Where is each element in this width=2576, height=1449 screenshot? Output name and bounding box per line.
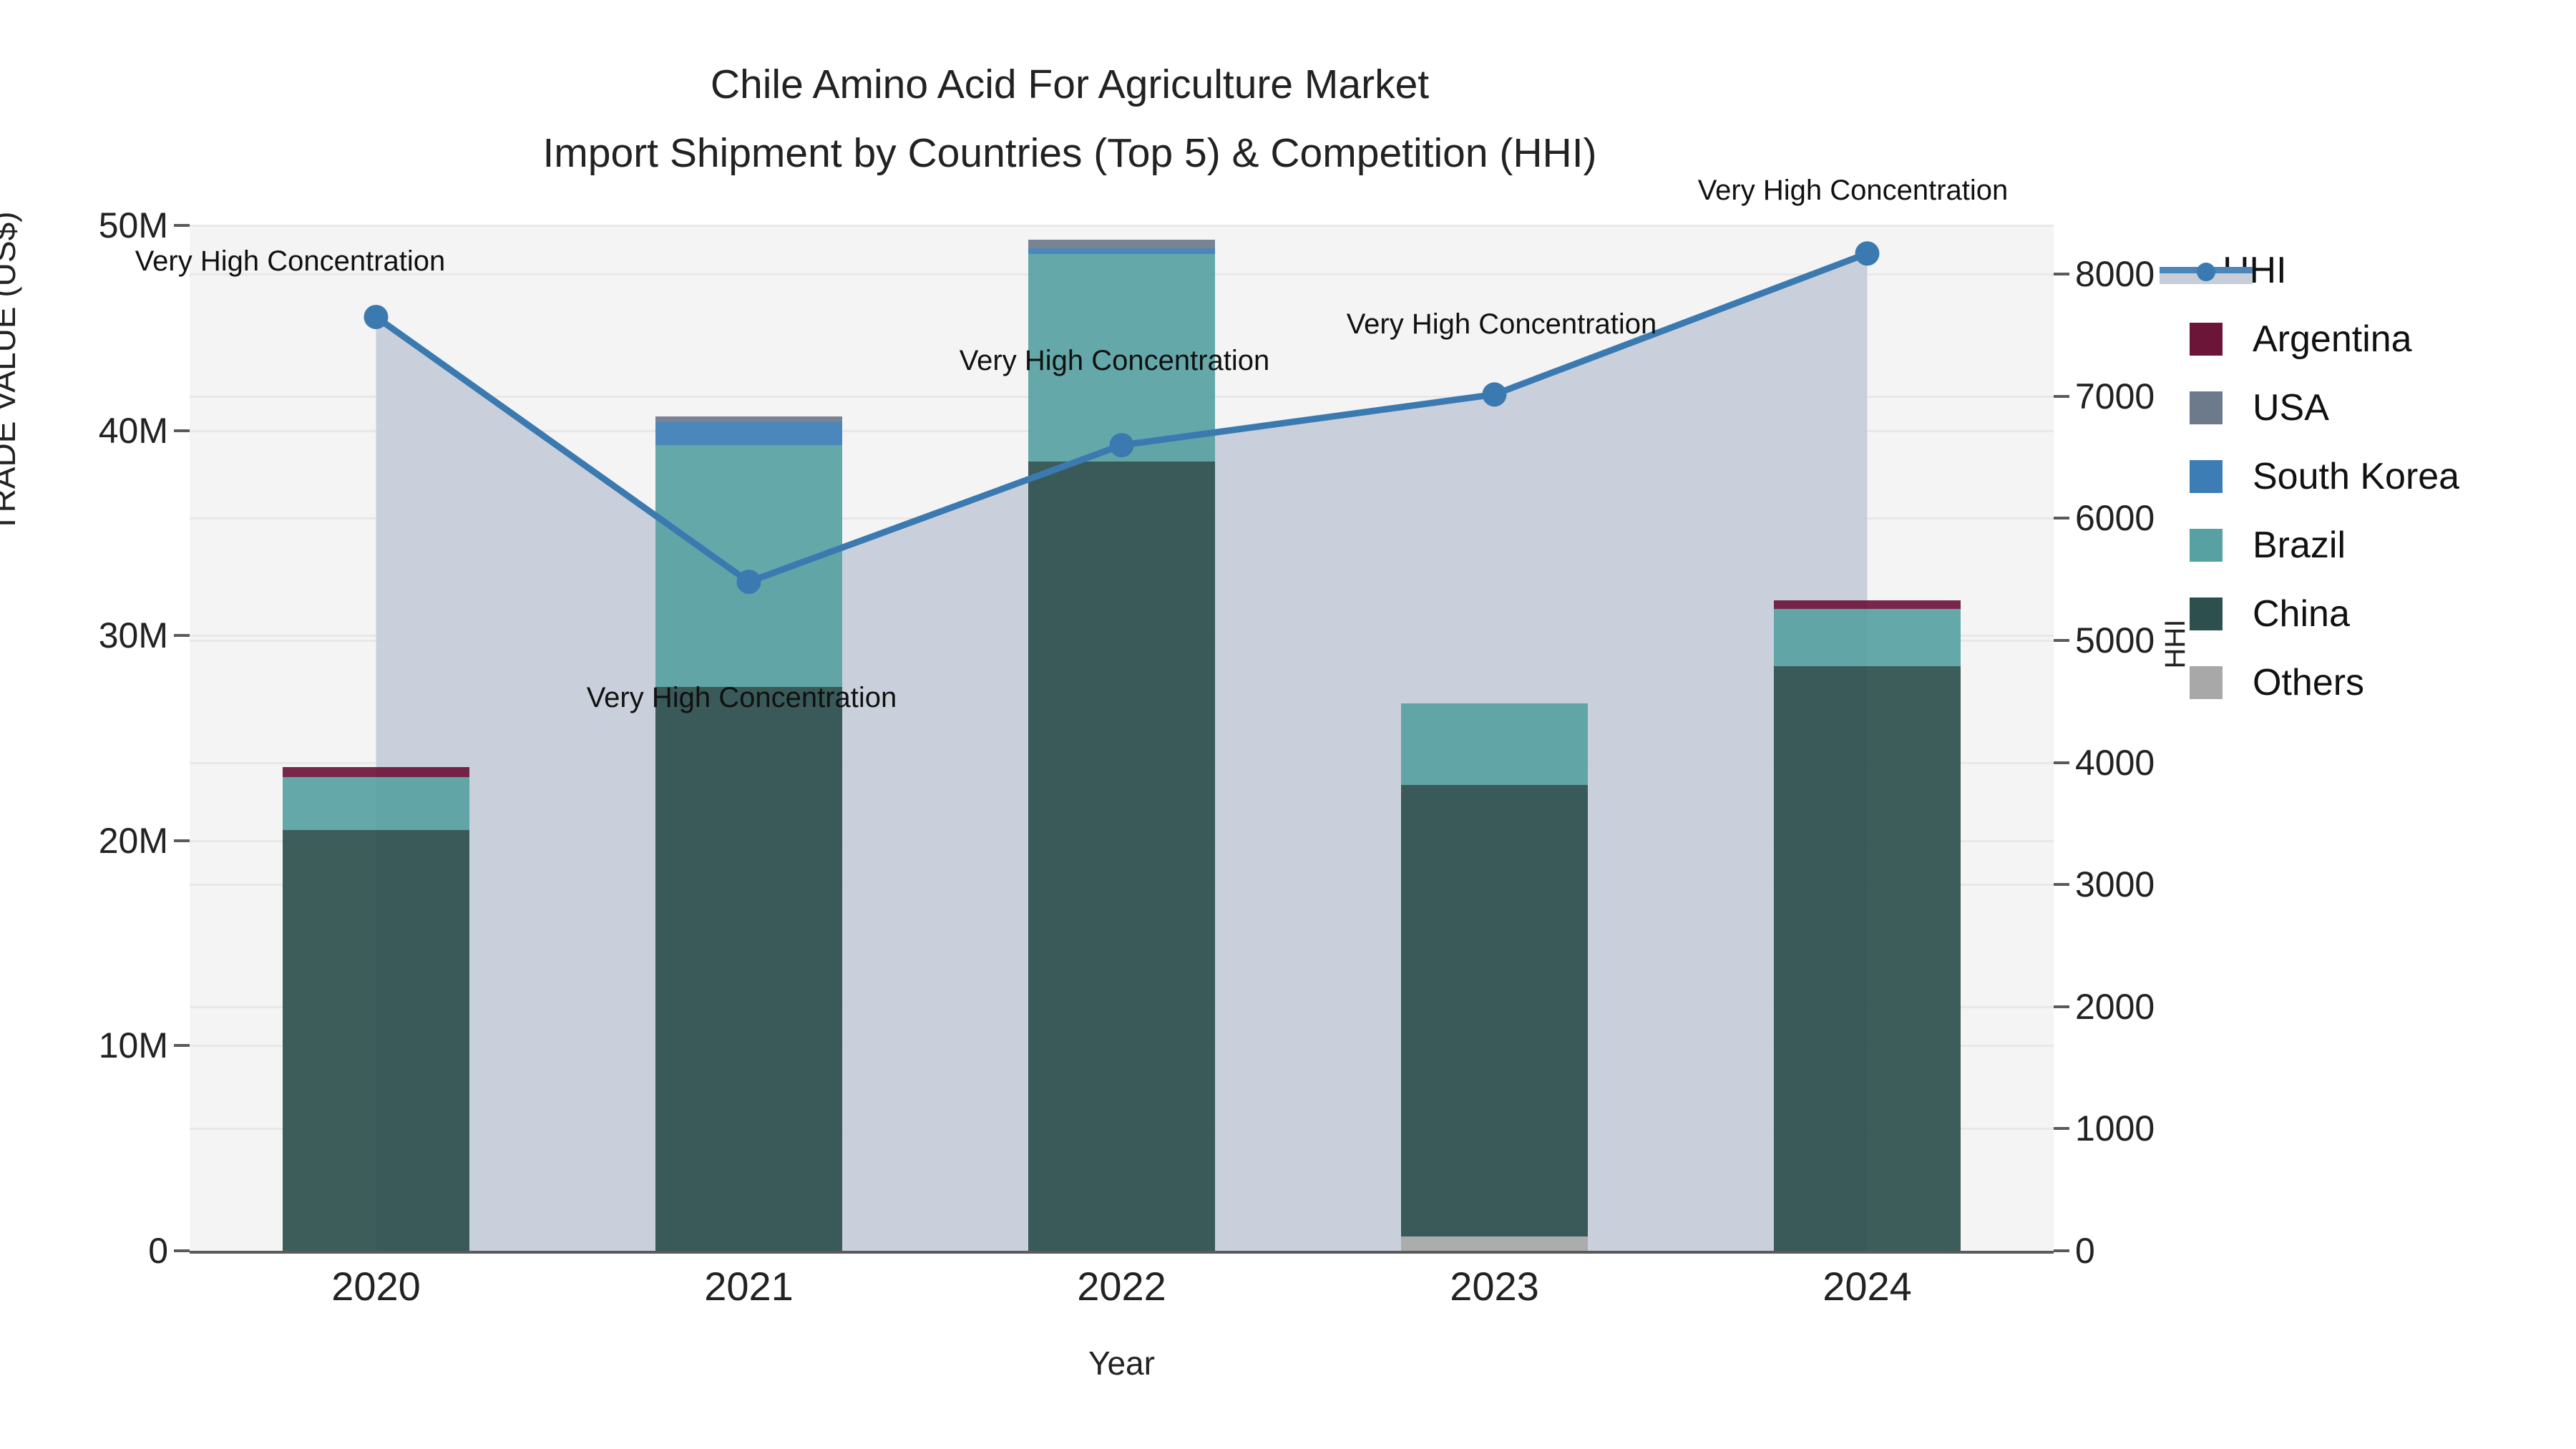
y-tick-left-mark bbox=[174, 634, 190, 637]
hhi-marker[interactable] bbox=[364, 305, 389, 329]
x-tick-label: 2021 bbox=[642, 1265, 857, 1308]
y-tick-right-mark bbox=[2054, 273, 2069, 275]
legend-color-swatch bbox=[2190, 323, 2223, 356]
legend-color-swatch bbox=[2190, 529, 2223, 562]
plot-area: Very High ConcentrationVery High Concent… bbox=[190, 225, 2054, 1251]
x-tick-label: 2023 bbox=[1387, 1265, 1602, 1308]
legend-item-label: South Korea bbox=[2253, 457, 2459, 497]
y-tick-right-mark bbox=[2054, 883, 2069, 886]
legend-item-usa[interactable]: USA bbox=[2190, 374, 2576, 442]
x-axis-label: Year bbox=[190, 1345, 2054, 1381]
hhi-marker[interactable] bbox=[1483, 382, 1507, 406]
y-tick-right-label: 0 bbox=[2075, 1233, 2261, 1269]
concentration-annotation: Very High Concentration bbox=[1230, 308, 1774, 340]
legend-item-brazil[interactable]: Brazil bbox=[2190, 511, 2576, 580]
chart-canvas: Chile Amino Acid For Agriculture Market … bbox=[0, 0, 2576, 1449]
concentration-annotation: Very High Concentration bbox=[843, 345, 1387, 376]
y-tick-right-label: 2000 bbox=[2075, 989, 2261, 1025]
y-tick-left-mark bbox=[174, 429, 190, 432]
y-tick-right-mark bbox=[2054, 761, 2069, 764]
y-tick-right-mark bbox=[2054, 1249, 2069, 1252]
legend-item-china[interactable]: China bbox=[2190, 580, 2576, 648]
y-tick-right-label: 1000 bbox=[2075, 1111, 2261, 1146]
hhi-marker[interactable] bbox=[737, 570, 761, 594]
y-tick-left-mark bbox=[174, 1044, 190, 1047]
x-tick-label: 2020 bbox=[269, 1265, 484, 1308]
y-tick-left-mark bbox=[174, 224, 190, 227]
chart-title: Chile Amino Acid For Agriculture Market bbox=[0, 50, 2140, 119]
concentration-annotation: Very High Concentration bbox=[1581, 175, 2125, 206]
y-tick-left-label: 30M bbox=[4, 618, 168, 653]
y-tick-right-mark bbox=[2054, 639, 2069, 642]
y-tick-right-mark bbox=[2054, 1127, 2069, 1130]
x-tick-label: 2022 bbox=[1015, 1265, 1229, 1308]
hhi-marker[interactable] bbox=[1855, 241, 1880, 265]
hhi-marker[interactable] bbox=[1110, 433, 1134, 457]
x-tick-label: 2024 bbox=[1760, 1265, 1975, 1308]
y-tick-left-label: 20M bbox=[4, 823, 168, 859]
legend-line-dot bbox=[2197, 263, 2215, 281]
legend-item-label: Argentina bbox=[2253, 319, 2412, 359]
legend-line-icon bbox=[2160, 254, 2253, 287]
y-tick-left-mark bbox=[174, 1249, 190, 1252]
legend-color-swatch bbox=[2190, 666, 2223, 699]
y-tick-left-label: 50M bbox=[4, 208, 168, 243]
chart-title-block: Chile Amino Acid For Agriculture Market … bbox=[0, 50, 2140, 187]
legend-item-label: Others bbox=[2253, 663, 2364, 703]
y-tick-right-mark bbox=[2054, 395, 2069, 398]
y-tick-right-mark bbox=[2054, 1005, 2069, 1008]
legend-color-swatch bbox=[2190, 391, 2223, 424]
x-axis-line bbox=[190, 1251, 2054, 1254]
legend-color-swatch bbox=[2190, 460, 2223, 493]
y-tick-right-label: 4000 bbox=[2075, 745, 2261, 781]
y-tick-left-mark bbox=[174, 839, 190, 842]
legend-item-label: China bbox=[2253, 594, 2350, 634]
concentration-annotation: Very High Concentration bbox=[470, 682, 1014, 713]
concentration-annotation: Very High Concentration bbox=[19, 245, 562, 277]
hhi-line-series bbox=[190, 225, 2054, 1251]
y-tick-right-mark bbox=[2054, 517, 2069, 519]
legend-item-south-korea[interactable]: South Korea bbox=[2190, 442, 2576, 511]
legend-item-hhi[interactable]: HHI bbox=[2190, 236, 2576, 305]
legend-item-others[interactable]: Others bbox=[2190, 648, 2576, 717]
y-tick-left-label: 10M bbox=[4, 1028, 168, 1063]
legend-item-label: Brazil bbox=[2253, 525, 2346, 565]
legend-item-label: USA bbox=[2253, 388, 2329, 428]
y-tick-left-label: 40M bbox=[4, 413, 168, 449]
legend-color-swatch bbox=[2190, 597, 2223, 630]
hhi-polyline bbox=[376, 253, 1868, 582]
chart-legend: HHIArgentinaUSASouth KoreaBrazilChinaOth… bbox=[2190, 236, 2576, 717]
legend-item-argentina[interactable]: Argentina bbox=[2190, 305, 2576, 374]
y-tick-left-label: 0 bbox=[4, 1233, 168, 1269]
y-tick-right-label: 3000 bbox=[2075, 867, 2261, 902]
